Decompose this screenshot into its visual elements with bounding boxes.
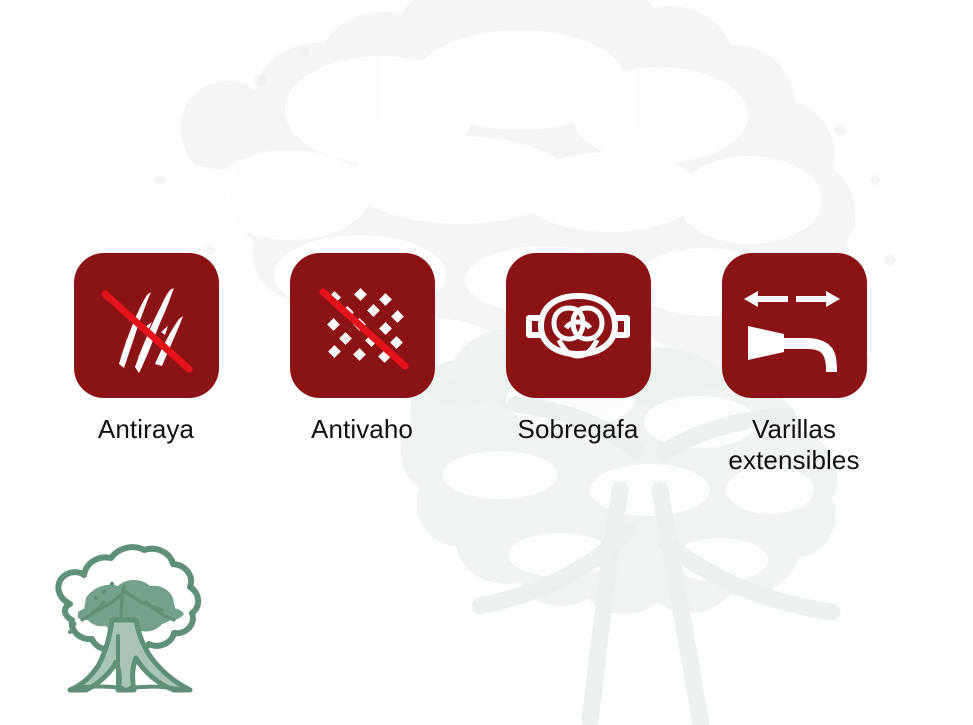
feature-label-antiraya: Antiraya [98, 414, 194, 445]
feature-label-sobregafa: Sobregafa [518, 414, 639, 445]
tree-logo [26, 536, 216, 706]
feature-label-varillas-extensibles: Varillas extensibles [728, 414, 859, 476]
feature-list: Antiraya [0, 253, 973, 476]
slide-canvas: Antiraya [0, 0, 973, 725]
feature-label-antivaho: Antivaho [311, 414, 413, 445]
feature-tile-varillas-extensibles[interactable] [722, 253, 867, 398]
scratch-resistant-icon [89, 268, 204, 383]
feature-item-sobregafa[interactable]: Sobregafa [470, 253, 686, 476]
feature-tile-antiraya[interactable] [74, 253, 219, 398]
feature-item-antiraya[interactable]: Antiraya [38, 253, 254, 476]
feature-item-antivaho[interactable]: Antivaho [254, 253, 470, 476]
over-glasses-goggles-icon [519, 278, 637, 374]
extendable-temples-icon [738, 276, 850, 376]
feature-item-varillas-extensibles[interactable]: Varillas extensibles [686, 253, 902, 476]
anti-fog-icon [305, 268, 420, 383]
feature-tile-antivaho[interactable] [290, 253, 435, 398]
feature-tile-sobregafa[interactable] [506, 253, 651, 398]
